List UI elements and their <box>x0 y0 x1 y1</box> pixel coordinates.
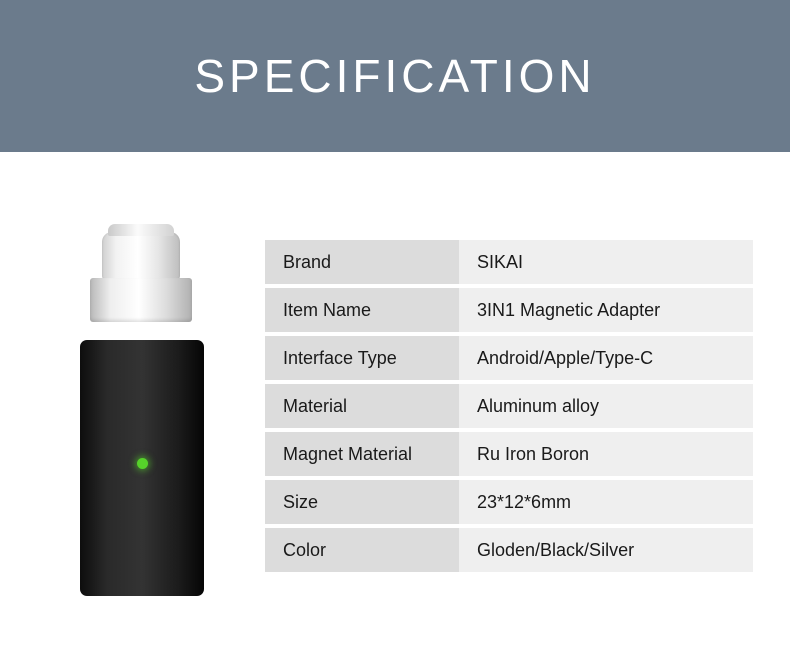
table-row: Magnet Material Ru Iron Boron <box>265 432 753 476</box>
spec-value: SIKAI <box>459 240 753 284</box>
led-indicator-icon <box>137 458 148 469</box>
spec-value: Ru Iron Boron <box>459 432 753 476</box>
table-row: Material Aluminum alloy <box>265 384 753 428</box>
product-image <box>60 200 240 620</box>
spec-key: Magnet Material <box>265 432 459 476</box>
spec-key: Color <box>265 528 459 572</box>
spec-key: Interface Type <box>265 336 459 380</box>
spec-value: Gloden/Black/Silver <box>459 528 753 572</box>
spec-key: Material <box>265 384 459 428</box>
specification-page: SPECIFICATION Brand SIKAI Item Name 3IN1… <box>0 0 790 649</box>
table-row: Item Name 3IN1 Magnetic Adapter <box>265 288 753 332</box>
table-row: Brand SIKAI <box>265 240 753 284</box>
specification-table: Brand SIKAI Item Name 3IN1 Magnetic Adap… <box>265 240 753 576</box>
spec-key: Brand <box>265 240 459 284</box>
spec-key: Size <box>265 480 459 524</box>
spec-key: Item Name <box>265 288 459 332</box>
page-banner: SPECIFICATION <box>0 0 790 152</box>
usb-connector-neck-icon <box>90 278 192 322</box>
table-row: Color Gloden/Black/Silver <box>265 528 753 572</box>
page-title: SPECIFICATION <box>194 49 595 103</box>
table-row: Interface Type Android/Apple/Type-C <box>265 336 753 380</box>
spec-value: 23*12*6mm <box>459 480 753 524</box>
spec-value: 3IN1 Magnetic Adapter <box>459 288 753 332</box>
connector-gap <box>90 322 192 340</box>
adapter-body <box>80 340 204 596</box>
spec-value: Aluminum alloy <box>459 384 753 428</box>
table-row: Size 23*12*6mm <box>265 480 753 524</box>
spec-value: Android/Apple/Type-C <box>459 336 753 380</box>
usb-connector-tip-icon <box>102 232 180 280</box>
